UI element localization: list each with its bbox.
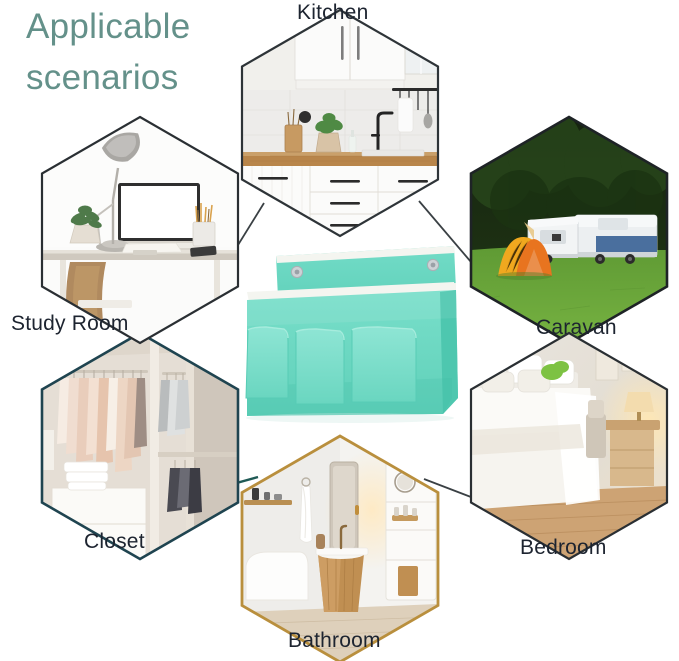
scenario-labels: Applicable scenarios Kitchen Caravan Bed… bbox=[0, 0, 679, 661]
label-kitchen: Kitchen bbox=[297, 2, 368, 23]
page-title-line-2: scenarios bbox=[26, 53, 286, 104]
label-bedroom: Bedroom bbox=[520, 537, 607, 558]
label-study-room: Study Room bbox=[11, 313, 129, 334]
page-title: Applicable scenarios bbox=[26, 2, 286, 104]
page-title-line-1: Applicable bbox=[26, 7, 191, 46]
infographic-canvas: Applicable scenarios Kitchen Caravan Bed… bbox=[0, 0, 679, 661]
label-closet: Closet bbox=[84, 531, 145, 552]
label-caravan: Caravan bbox=[536, 317, 617, 338]
label-bathroom: Bathroom bbox=[288, 630, 381, 651]
